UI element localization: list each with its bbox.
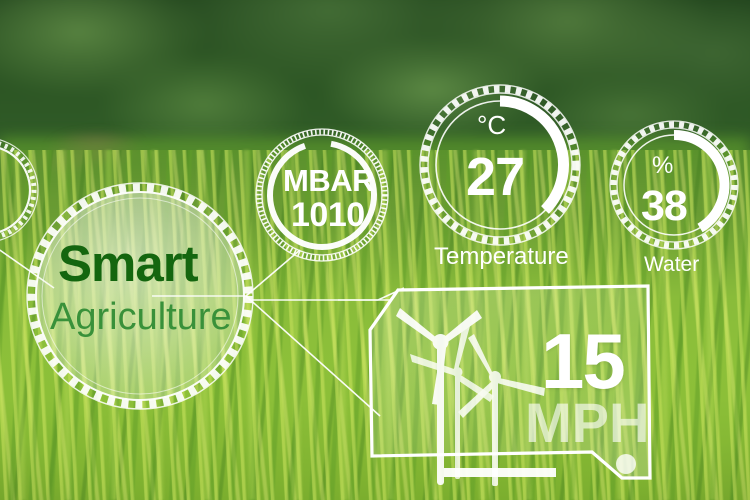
connector-node-to-panel-top (252, 288, 404, 300)
connector-node-to-panel (246, 296, 380, 416)
smart-agriculture-infographic: Smart Agriculture MBAR 1010 °C 27 Temper… (0, 0, 750, 500)
temperature-unit: °C (477, 110, 506, 141)
water-label: Water (644, 253, 699, 277)
wind-panel-bottom-bar (444, 468, 556, 477)
temperature-value: 27 (466, 146, 524, 208)
connector-to-pressure (246, 250, 300, 296)
hud-overlay: Smart Agriculture MBAR 1010 °C 27 Temper… (0, 0, 750, 500)
water-unit: % (652, 152, 673, 180)
pressure-unit: MBAR (283, 163, 374, 199)
wind-speed-unit: MPH (525, 390, 649, 455)
brand-title-line2: Agriculture (50, 296, 232, 339)
water-value: 38 (641, 182, 687, 231)
gauge-partial-left (0, 138, 38, 242)
temperature-label: Temperature (434, 243, 569, 271)
wind-panel-corner-dot (616, 454, 636, 474)
pressure-value: 1010 (291, 196, 365, 235)
brand-title-line1: Smart (58, 234, 198, 293)
